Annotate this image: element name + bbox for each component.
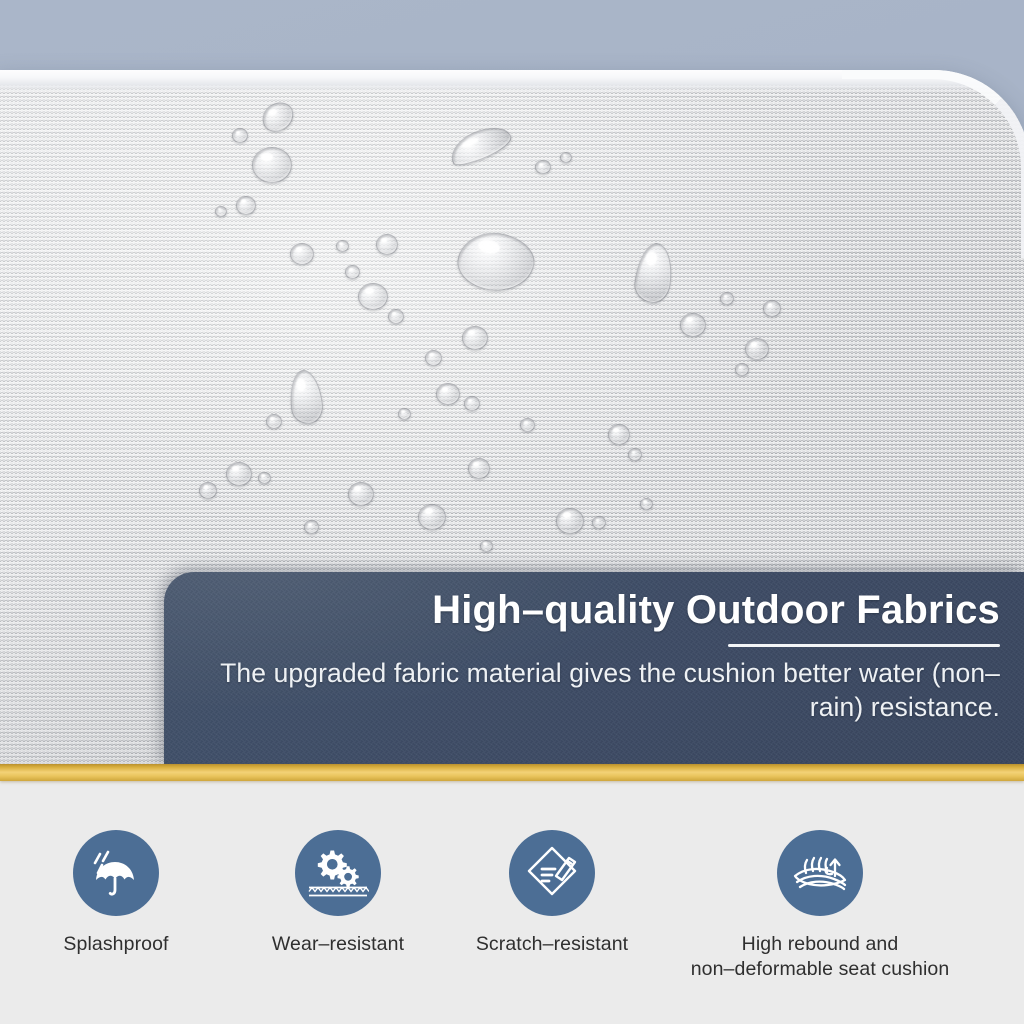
banner-divider-rule [728, 644, 1000, 647]
product-marketing-image: High–quality Outdoor Fabrics The upgrade… [0, 0, 1024, 1024]
feature-icon-circle [295, 830, 381, 916]
banner-subtitle: The upgraded fabric material gives the c… [204, 656, 1000, 725]
banner-title: High–quality Outdoor Fabrics [204, 572, 1000, 633]
gears-on-fabric-icon [307, 842, 369, 904]
feature-wear-resistant: Wear–resistant [232, 830, 444, 957]
gold-accent-strip [0, 764, 1024, 781]
feature-row: Splashproof [0, 781, 1024, 982]
cushion-rebound-arrow-icon [789, 842, 851, 904]
feature-label: Wear–resistant [272, 932, 404, 957]
feature-label: Scratch–resistant [476, 932, 628, 957]
feature-label: High rebound and non–deformable seat cus… [691, 932, 950, 982]
feature-splashproof: Splashproof [0, 830, 232, 957]
umbrella-rain-icon [88, 845, 144, 901]
feature-scratch-resistant: Scratch–resistant [444, 830, 660, 957]
blade-on-panel-icon [522, 843, 582, 903]
feature-panel: Splashproof [0, 781, 1024, 1024]
feature-label: Splashproof [63, 932, 168, 957]
feature-icon-circle [509, 830, 595, 916]
headline-banner: High–quality Outdoor Fabrics The upgrade… [164, 572, 1024, 766]
feature-icon-circle [73, 830, 159, 916]
feature-icon-circle [777, 830, 863, 916]
feature-high-rebound: High rebound and non–deformable seat cus… [660, 830, 980, 982]
